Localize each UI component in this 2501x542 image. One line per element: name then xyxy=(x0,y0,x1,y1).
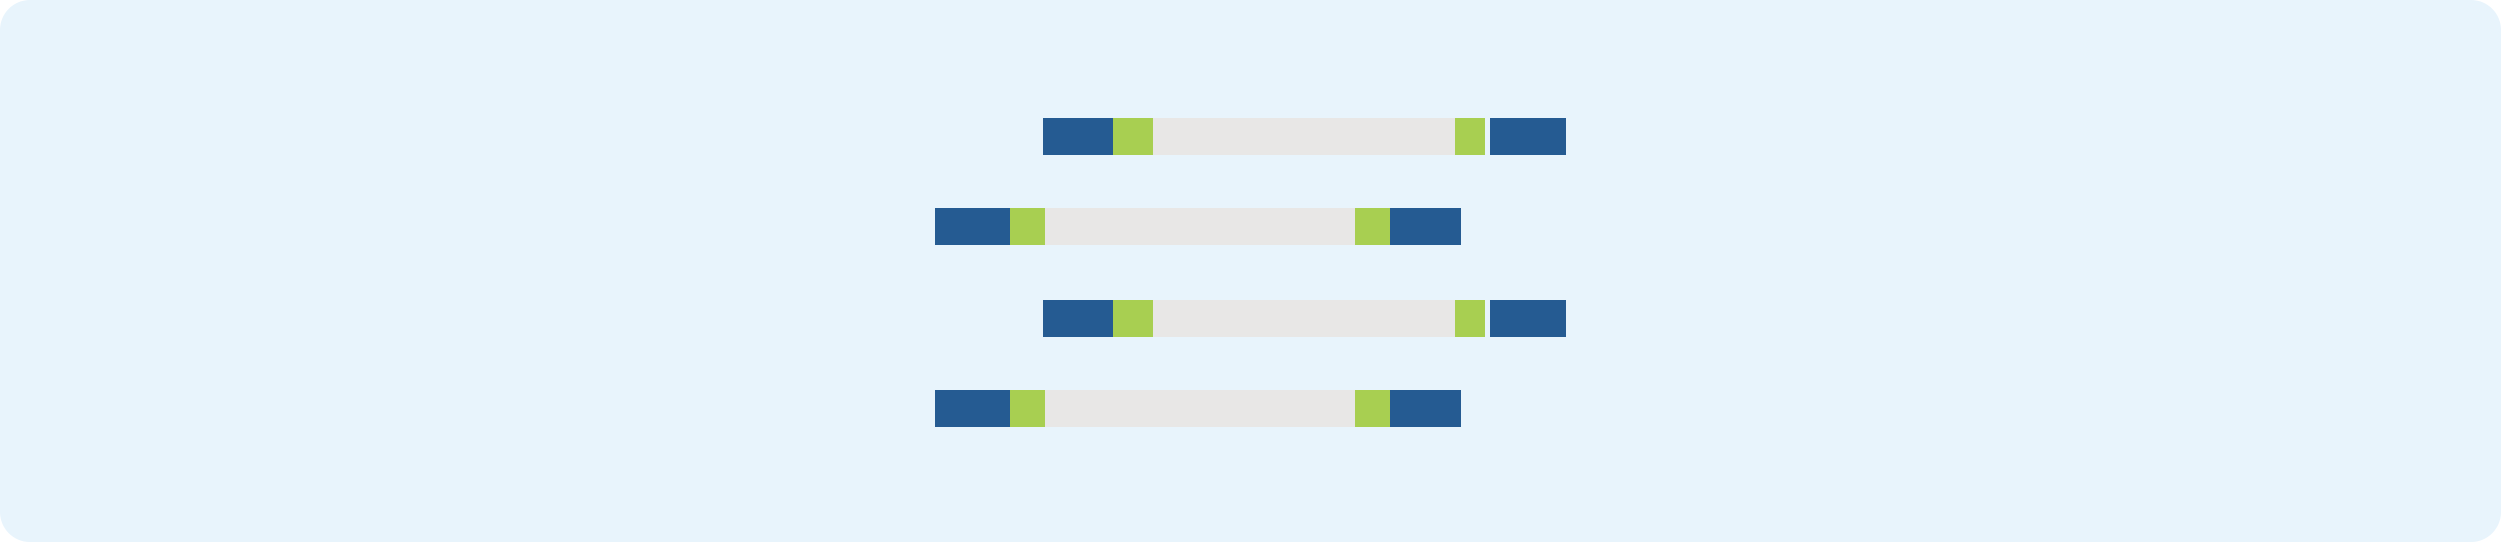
bar-segment-left-marker[interactable] xyxy=(1010,390,1045,427)
bar-segment-left-cap[interactable] xyxy=(935,208,1010,245)
screenshot-canvas xyxy=(0,0,2501,542)
bar-segment-right-cap[interactable] xyxy=(1490,300,1566,337)
bar-segment-range-track[interactable] xyxy=(1045,208,1355,245)
bar-segment-right-cap[interactable] xyxy=(1490,118,1566,155)
bar-segment-right-marker[interactable] xyxy=(1355,390,1390,427)
bar-segment-right-cap[interactable] xyxy=(1390,390,1461,427)
bar-row[interactable] xyxy=(935,208,1461,245)
bar-row[interactable] xyxy=(1043,300,1566,337)
stacked-range-bar-chart xyxy=(0,0,2501,542)
bar-segment-range-track[interactable] xyxy=(1153,300,1455,337)
bar-segment-left-cap[interactable] xyxy=(1043,118,1113,155)
bar-segment-right-marker[interactable] xyxy=(1455,300,1485,337)
bar-segment-right-cap[interactable] xyxy=(1390,208,1461,245)
bar-segment-left-marker[interactable] xyxy=(1113,118,1153,155)
bar-segment-left-marker[interactable] xyxy=(1113,300,1153,337)
bar-segment-right-marker[interactable] xyxy=(1455,118,1485,155)
bar-segment-range-track[interactable] xyxy=(1045,390,1355,427)
bar-row[interactable] xyxy=(935,390,1461,427)
chart-card xyxy=(0,0,2501,542)
bar-segment-range-track[interactable] xyxy=(1153,118,1455,155)
bar-segment-left-cap[interactable] xyxy=(935,390,1010,427)
bar-segment-left-marker[interactable] xyxy=(1010,208,1045,245)
bar-row[interactable] xyxy=(1043,118,1566,155)
bar-segment-left-cap[interactable] xyxy=(1043,300,1113,337)
bar-segment-right-marker[interactable] xyxy=(1355,208,1390,245)
